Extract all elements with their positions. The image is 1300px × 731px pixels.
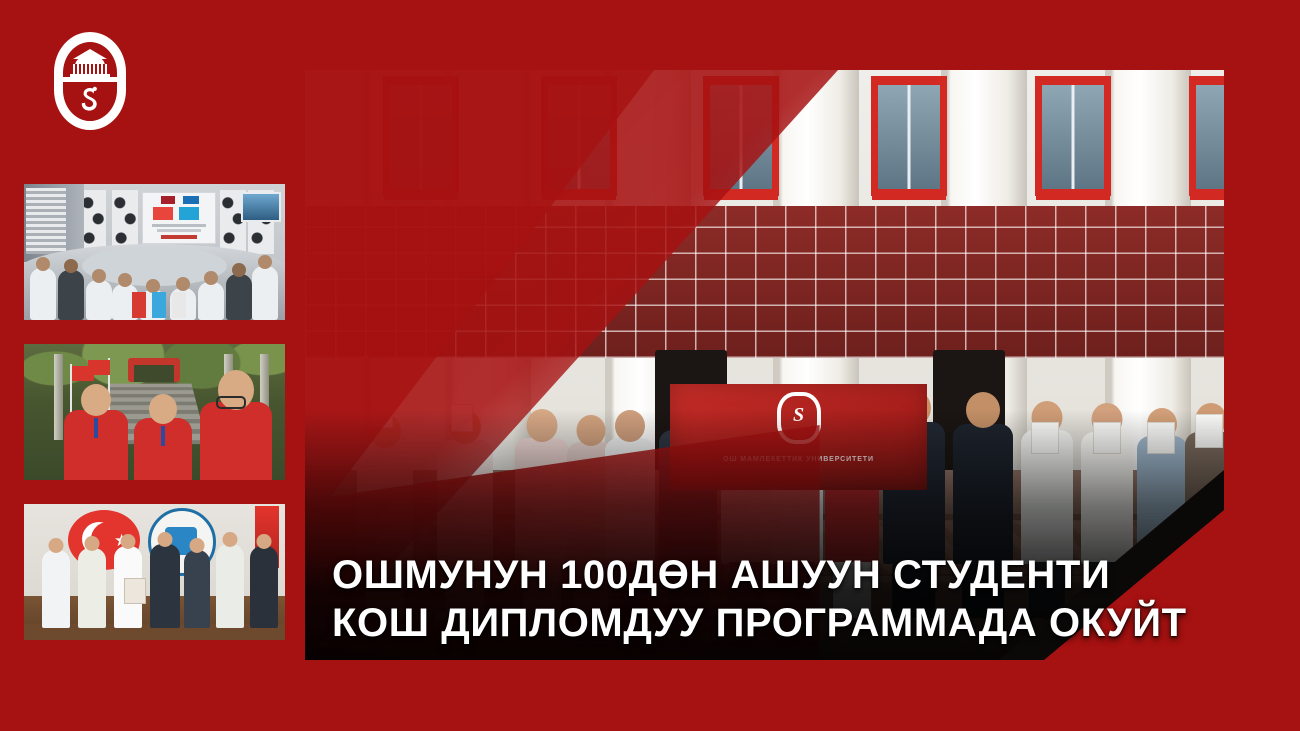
turkey-visit-illustration: ★ bbox=[24, 504, 285, 640]
students-outdoors-illustration bbox=[24, 344, 285, 480]
swan-s-glyph-icon bbox=[79, 84, 101, 120]
university-logo[interactable] bbox=[54, 32, 126, 130]
logo-crest-icon bbox=[63, 42, 117, 121]
headline-line-1: ОШМУНУН 100ДӨН АШУУН СТУДЕНТИ bbox=[332, 553, 1110, 597]
osh-university-banner-flag: ОШ МАМЛЕКЕТТИК УНИВЕРСИТЕТИ bbox=[670, 384, 927, 490]
meeting-room-illustration bbox=[24, 184, 285, 320]
banner-text: ОШ МАМЛЕКЕТТИК УНИВЕРСИТЕТИ bbox=[670, 455, 927, 464]
news-banner-canvas: ★ bbox=[0, 0, 1300, 731]
headline-line-2: КОШ ДИПЛОМДУУ ПРОГРАММАДА ОКУЙТ bbox=[332, 599, 1232, 647]
thumbnail-students-outdoors[interactable] bbox=[24, 344, 285, 480]
banner-crest-icon bbox=[777, 392, 821, 444]
headline: ОШМУНУН 100ДӨН АШУУН СТУДЕНТИ КОШ ДИПЛОМ… bbox=[332, 551, 1232, 647]
thumbnail-meeting-room[interactable] bbox=[24, 184, 285, 320]
thumbnail-turkey-visit[interactable]: ★ bbox=[24, 504, 285, 640]
